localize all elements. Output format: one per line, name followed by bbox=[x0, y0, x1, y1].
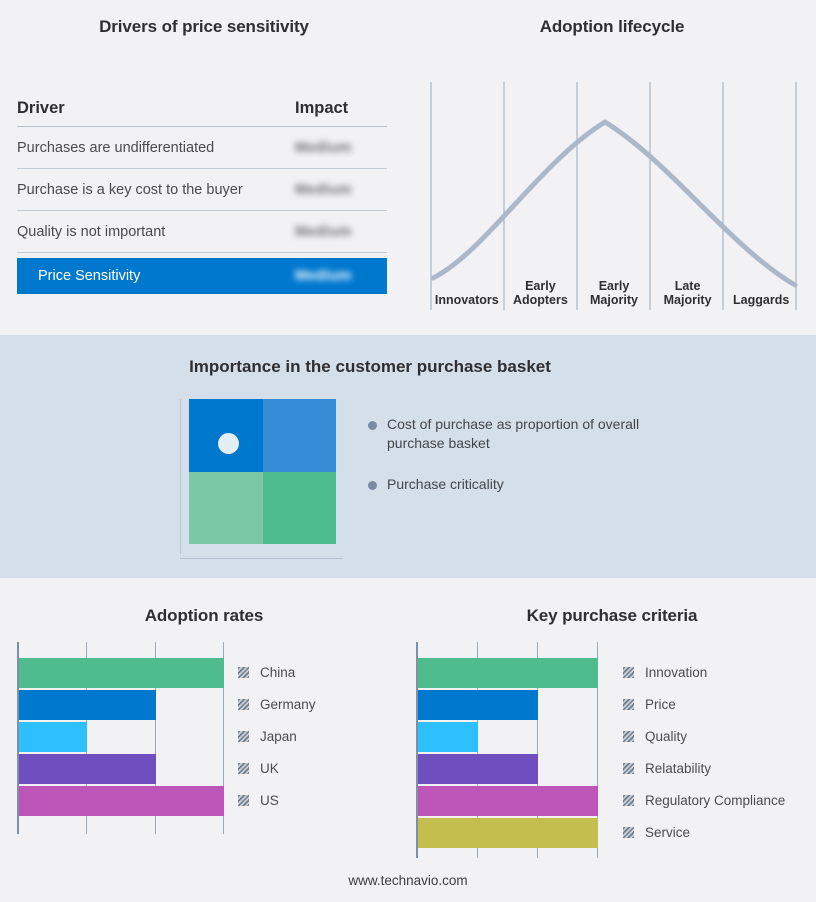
legend-item: Relatability bbox=[623, 761, 711, 776]
quadrant-bottom-right bbox=[263, 472, 337, 545]
basket-title: Importance in the customer purchase bask… bbox=[0, 357, 740, 377]
lifecycle-title: Adoption lifecycle bbox=[408, 17, 816, 37]
legend-label: UK bbox=[260, 761, 279, 776]
legend-swatch-icon bbox=[623, 731, 634, 742]
quadrant-top-right bbox=[263, 399, 337, 472]
legend-item: Cost of purchase as proportion of overal… bbox=[368, 415, 668, 453]
bar bbox=[418, 754, 538, 784]
legend-label: Service bbox=[645, 825, 690, 840]
position-marker-dot bbox=[218, 433, 239, 454]
impact-value: Medium bbox=[295, 140, 387, 156]
stage-label: Late Majority bbox=[651, 279, 725, 307]
legend-item: Quality bbox=[623, 729, 687, 744]
quadrant-matrix bbox=[180, 399, 345, 559]
legend-item: US bbox=[238, 793, 279, 808]
bar-row bbox=[418, 754, 598, 784]
legend-label: US bbox=[260, 793, 279, 808]
bar bbox=[418, 722, 478, 752]
table-row: Quality is not important Medium bbox=[17, 211, 387, 253]
lifecycle-stage-late-majority: Late Majority bbox=[651, 262, 725, 310]
adoption-rates-title: Adoption rates bbox=[0, 606, 408, 626]
drivers-panel: Drivers of price sensitivity Driver Impa… bbox=[0, 0, 408, 335]
stage-label: Laggards bbox=[733, 293, 789, 307]
bar-row bbox=[19, 658, 224, 688]
bar-row bbox=[418, 690, 598, 720]
legend-label: Relatability bbox=[645, 761, 711, 776]
bar-row bbox=[19, 690, 224, 720]
impact-value: Medium bbox=[295, 224, 387, 240]
stage-label: Early Majority bbox=[577, 279, 651, 307]
lifecycle-stage-early-adopters: Early Adopters bbox=[504, 262, 578, 310]
table-row: Purchases are undifferentiated Medium bbox=[17, 127, 387, 169]
legend-item: Japan bbox=[238, 729, 297, 744]
bar-row bbox=[19, 754, 224, 784]
summary-impact-value: Medium bbox=[295, 268, 387, 284]
legend-label: Price bbox=[645, 697, 676, 712]
bar bbox=[418, 818, 598, 848]
bullet-icon bbox=[368, 481, 377, 490]
legend-item: Purchase criticality bbox=[368, 475, 668, 494]
lifecycle-stage-early-majority: Early Majority bbox=[577, 262, 651, 310]
key-purchase-criteria-title: Key purchase criteria bbox=[408, 606, 816, 626]
bar bbox=[418, 786, 598, 816]
footer-url: www.technavio.com bbox=[0, 873, 816, 888]
legend-swatch-icon bbox=[238, 763, 249, 774]
basket-legend: Cost of purchase as proportion of overal… bbox=[368, 415, 668, 516]
legend-item: China bbox=[238, 665, 295, 680]
bar bbox=[19, 754, 156, 784]
matrix-x-axis bbox=[180, 558, 343, 559]
matrix-y-axis bbox=[180, 399, 181, 554]
bar-row bbox=[418, 658, 598, 688]
legend-label: China bbox=[260, 665, 295, 680]
legend-item: Price bbox=[623, 697, 676, 712]
lifecycle-stage-innovators: Innovators bbox=[430, 262, 504, 310]
matrix-quadrants bbox=[189, 399, 336, 544]
bar-row bbox=[418, 786, 598, 816]
driver-name: Purchases are undifferentiated bbox=[17, 140, 295, 156]
legend-swatch-icon bbox=[623, 667, 634, 678]
legend-label: Germany bbox=[260, 697, 316, 712]
legend-item: Regulatory Compliance bbox=[623, 793, 785, 808]
legend-item: Service bbox=[623, 825, 690, 840]
bar bbox=[19, 786, 224, 816]
legend-swatch-icon bbox=[238, 699, 249, 710]
legend-swatch-icon bbox=[238, 667, 249, 678]
table-row: Purchase is a key cost to the buyer Medi… bbox=[17, 169, 387, 211]
legend-swatch-icon bbox=[238, 795, 249, 806]
table-header-row: Driver Impact bbox=[17, 90, 387, 127]
bar-row bbox=[418, 722, 598, 752]
key-purchase-criteria-panel: Key purchase criteria InnovationPriceQua… bbox=[408, 578, 816, 902]
legend-swatch-icon bbox=[623, 795, 634, 806]
legend-item: Germany bbox=[238, 697, 316, 712]
column-header-driver: Driver bbox=[17, 99, 295, 118]
legend-label: Cost of purchase as proportion of overal… bbox=[387, 415, 645, 453]
legend-label: Japan bbox=[260, 729, 297, 744]
legend-label: Innovation bbox=[645, 665, 707, 680]
bar-chart-legend: ChinaGermanyJapanUKUS bbox=[238, 642, 388, 834]
legend-swatch-icon bbox=[623, 763, 634, 774]
lifecycle-panel: Adoption lifecycle Innovators Early Adop… bbox=[408, 0, 816, 335]
drivers-title: Drivers of price sensitivity bbox=[0, 17, 408, 37]
legend-swatch-icon bbox=[623, 699, 634, 710]
bar-chart-plot-area bbox=[416, 642, 598, 858]
legend-item: UK bbox=[238, 761, 279, 776]
purchase-basket-panel: Importance in the customer purchase bask… bbox=[0, 335, 816, 578]
legend-swatch-icon bbox=[623, 827, 634, 838]
lifecycle-chart: Innovators Early Adopters Early Majority… bbox=[430, 82, 798, 310]
lifecycle-stage-labels: Innovators Early Adopters Early Majority… bbox=[430, 262, 798, 310]
quadrant-bottom-left bbox=[189, 472, 263, 545]
legend-label: Regulatory Compliance bbox=[645, 793, 785, 808]
bar bbox=[19, 690, 156, 720]
stage-label: Innovators bbox=[435, 293, 499, 307]
adoption-rates-panel: Adoption rates ChinaGermanyJapanUKUS bbox=[0, 578, 408, 902]
drivers-table: Driver Impact Purchases are undifferenti… bbox=[17, 90, 387, 294]
summary-label: Price Sensitivity bbox=[17, 268, 295, 284]
legend-label: Quality bbox=[645, 729, 687, 744]
lifecycle-stage-laggards: Laggards bbox=[724, 262, 798, 310]
bell-curve-path bbox=[433, 122, 795, 285]
bar-row bbox=[19, 722, 224, 752]
bar-row bbox=[19, 786, 224, 816]
bar bbox=[19, 658, 224, 688]
bar-chart-plot-area bbox=[17, 642, 224, 834]
price-sensitivity-summary-row: Price Sensitivity Medium bbox=[17, 258, 387, 294]
driver-name: Quality is not important bbox=[17, 224, 295, 240]
bar bbox=[19, 722, 87, 752]
bullet-icon bbox=[368, 421, 377, 430]
driver-name: Purchase is a key cost to the buyer bbox=[17, 182, 295, 198]
stage-label: Early Adopters bbox=[504, 279, 578, 307]
bar-chart-legend: InnovationPriceQualityRelatabilityRegula… bbox=[623, 642, 808, 858]
column-header-impact: Impact bbox=[295, 99, 387, 118]
bar-row bbox=[418, 818, 598, 848]
impact-value: Medium bbox=[295, 182, 387, 198]
bar bbox=[418, 658, 598, 688]
legend-item: Innovation bbox=[623, 665, 707, 680]
legend-label: Purchase criticality bbox=[387, 475, 504, 494]
bar bbox=[418, 690, 538, 720]
legend-swatch-icon bbox=[238, 731, 249, 742]
